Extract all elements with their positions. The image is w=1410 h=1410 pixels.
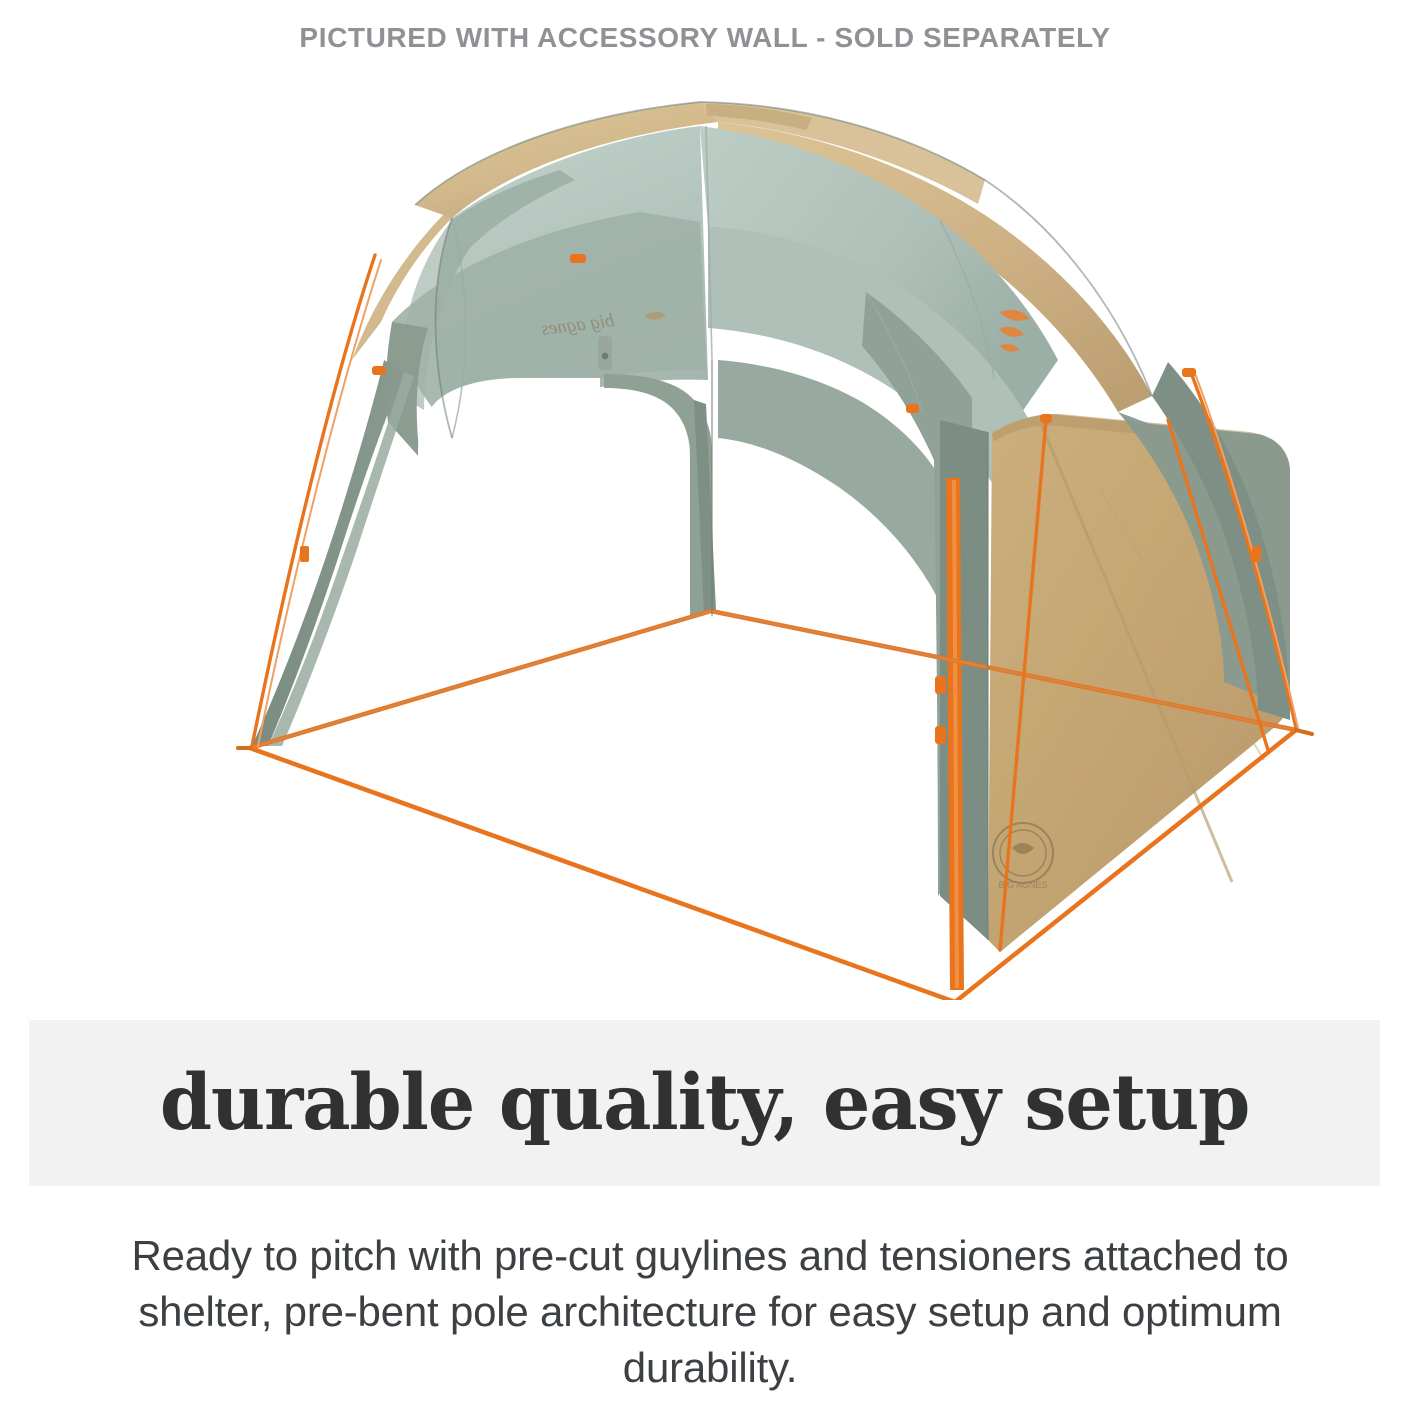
door-opening-left [418, 378, 600, 560]
tent-illustration: BIG AGNES [0, 60, 1410, 1000]
tab-wall-top [1040, 414, 1052, 423]
tensioner-wall-a [935, 676, 946, 694]
tab-top-left [570, 254, 586, 263]
tab-mid-right [906, 404, 919, 413]
product-photo: BIG AGNES [0, 60, 1410, 1000]
product-feature-page: PICTURED WITH ACCESSORY WALL - SOLD SEPA… [0, 0, 1410, 1410]
hero-image-section: PICTURED WITH ACCESSORY WALL - SOLD SEPA… [0, 0, 1410, 1018]
feature-headline: durable quality, easy setup [160, 1065, 1249, 1142]
headline-band: durable quality, easy setup [29, 1020, 1380, 1186]
tensioner-left [300, 546, 309, 562]
hero-caption: PICTURED WITH ACCESSORY WALL - SOLD SEPA… [0, 22, 1410, 54]
zipper-eyelet [602, 353, 609, 360]
guyline-ground-left-front [250, 748, 955, 1000]
stake-right [1296, 730, 1312, 734]
canopy-hardware [598, 336, 612, 370]
tensioner-wall-b [935, 726, 946, 744]
feature-description: Ready to pitch with pre-cut guylines and… [110, 1228, 1310, 1396]
tab-left [372, 366, 386, 375]
tensioner-right [1252, 546, 1261, 562]
tab-right [1182, 368, 1196, 377]
